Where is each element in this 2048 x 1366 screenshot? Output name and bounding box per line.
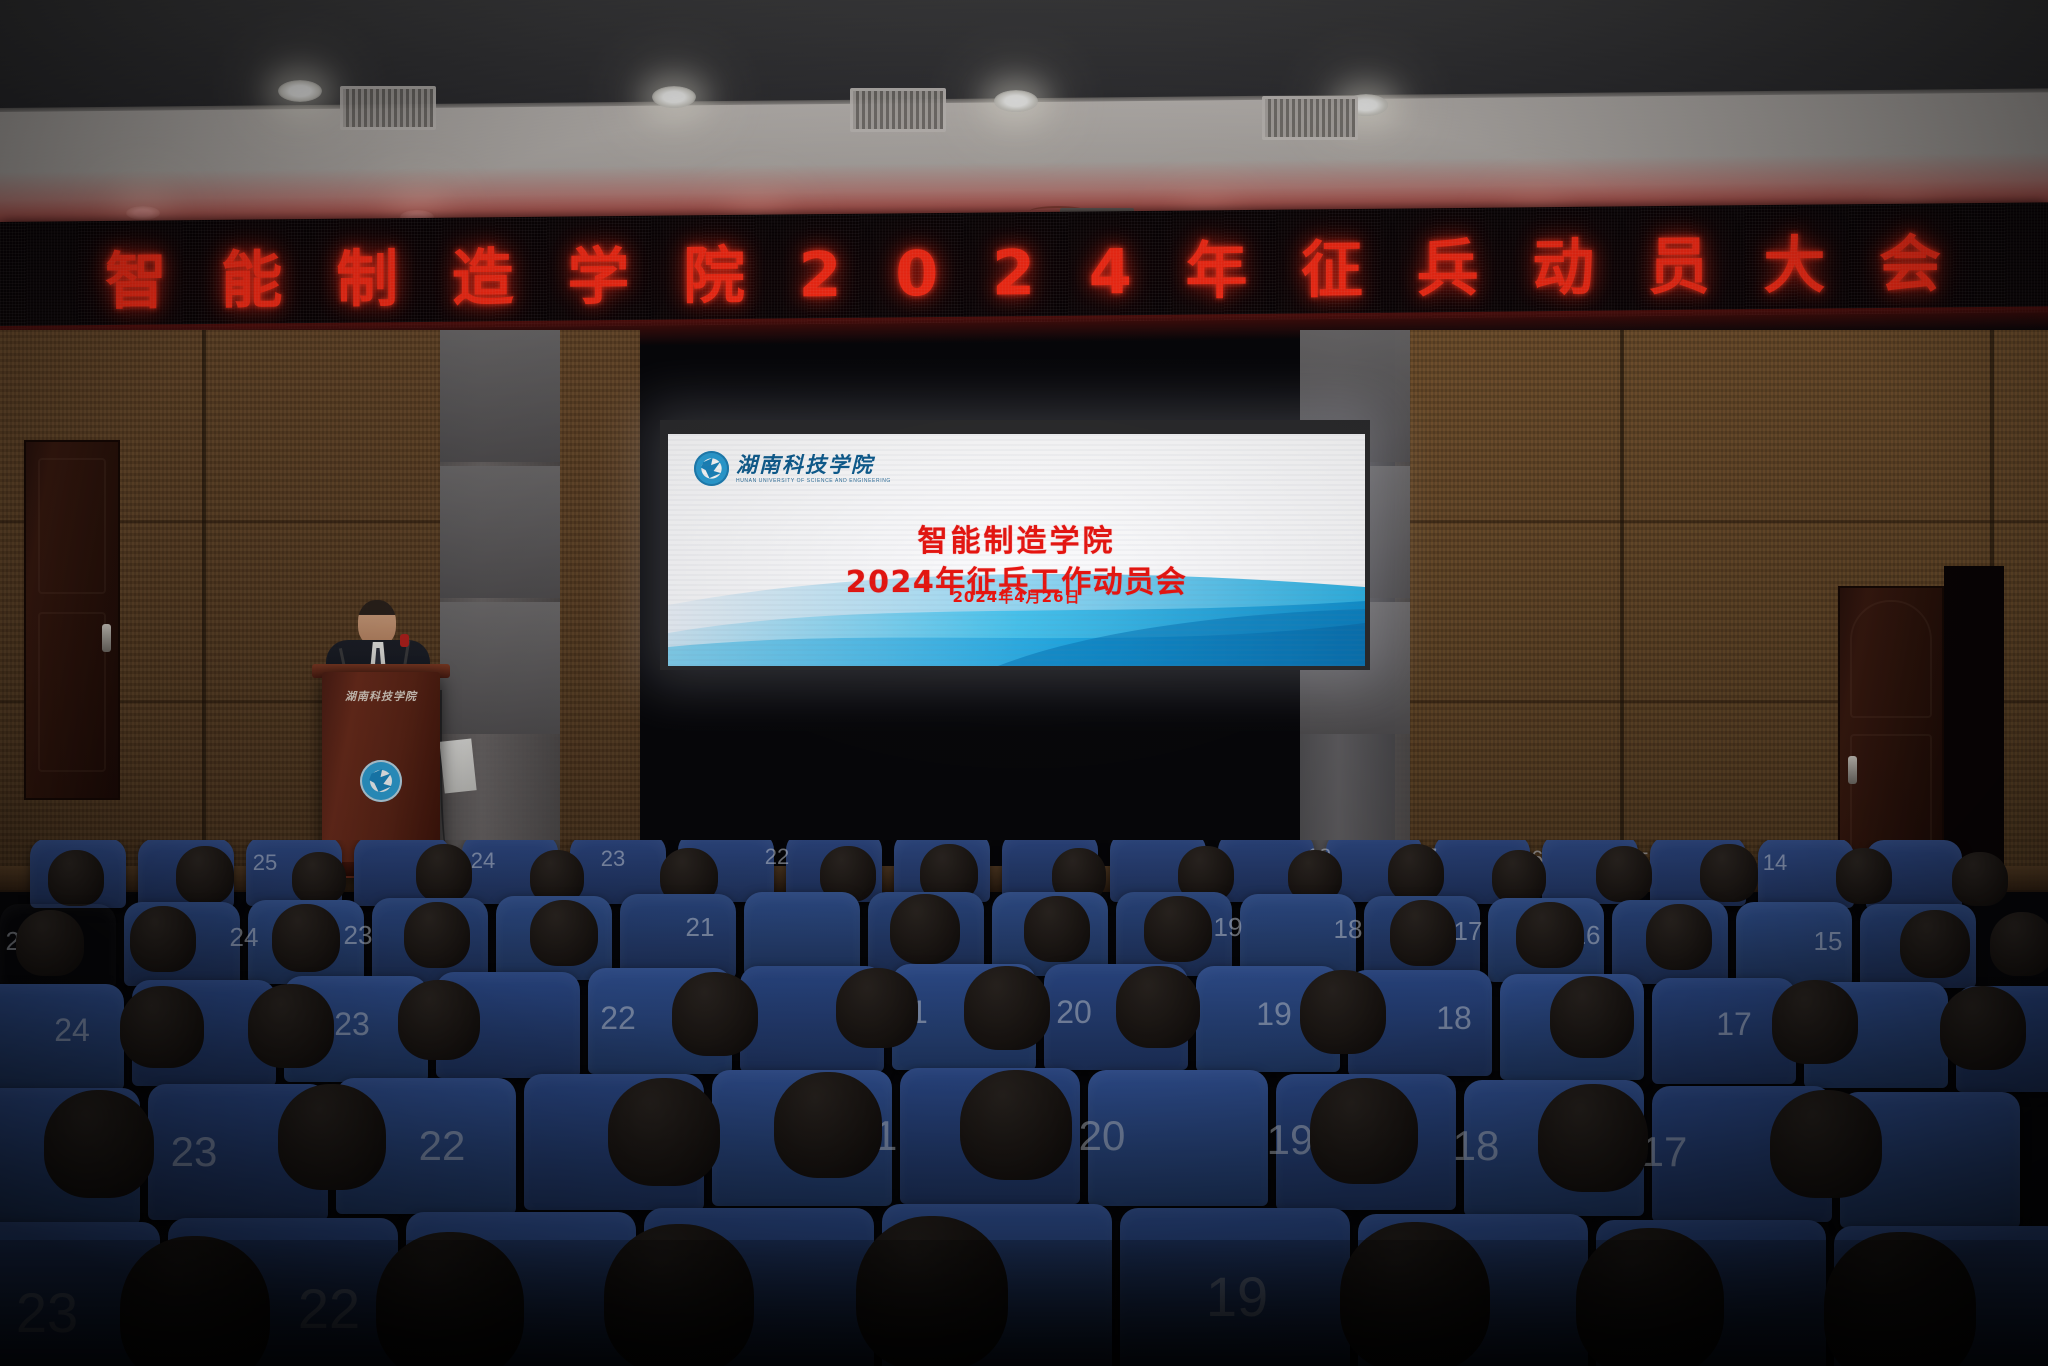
hvac-vent-icon [340, 86, 436, 130]
door-panel [38, 612, 106, 772]
hvac-vent-icon [1262, 96, 1358, 140]
audience-head [1646, 904, 1712, 970]
audience-head [1550, 976, 1634, 1058]
hvac-vent-icon [850, 88, 946, 132]
audience-head [1300, 970, 1386, 1054]
audience-head [404, 902, 470, 968]
door-panel [1850, 600, 1932, 718]
slide-title-line1: 智能制造学院 [668, 522, 1365, 563]
audience-head [1700, 844, 1758, 902]
audience-head [1900, 910, 1970, 978]
audience-head [376, 1232, 524, 1366]
audience-head [44, 1090, 154, 1198]
audience-head [1772, 980, 1858, 1064]
ceiling-light-icon [278, 80, 322, 102]
seat[interactable] [1120, 1208, 1350, 1366]
audience-head [1024, 896, 1090, 962]
audience-head [292, 852, 346, 904]
audience-head [672, 972, 758, 1056]
projection-screen: 湖南科技学院 HUNAN UNIVERSITY OF SCIENCE AND E… [668, 434, 1365, 666]
auditorium-scene: 智 能 制 造 学 院 2 0 2 4 年 征 兵 动 员 大 会 [0, 0, 2048, 1366]
audience-head [1576, 1228, 1724, 1366]
microphone-icon [400, 634, 409, 647]
audience-head [1390, 900, 1456, 966]
audience-head [48, 850, 104, 906]
university-crest-icon [360, 760, 402, 802]
door-handle-icon[interactable] [102, 624, 111, 652]
audience-head [272, 904, 340, 972]
audience-head [604, 1224, 754, 1366]
slide-logo: 湖南科技学院 HUNAN UNIVERSITY OF SCIENCE AND E… [694, 451, 891, 486]
pillar-block [440, 330, 560, 462]
seat[interactable] [1088, 1070, 1268, 1206]
audience-head [1388, 844, 1444, 902]
audience-head [1824, 1232, 1976, 1366]
audience-area: 26 25 24 23 22 18 17 16 15 14 13 [0, 840, 2048, 1366]
audience-head [856, 1216, 1008, 1366]
ceiling-light-icon [652, 86, 696, 108]
door-handle-icon[interactable] [1848, 756, 1857, 784]
audience-head [1516, 902, 1584, 968]
audience-head [1144, 896, 1212, 962]
audience-head [1952, 852, 2008, 906]
audience-head [1116, 966, 1200, 1048]
audience-head [1310, 1078, 1418, 1184]
seat[interactable] [1736, 902, 1852, 986]
logo-name-cn: 湖南科技学院 [736, 454, 891, 475]
seat[interactable] [620, 894, 736, 978]
audience-head [1990, 912, 2048, 976]
audience-head [774, 1072, 882, 1178]
audience-head [1770, 1090, 1882, 1198]
pillar-block [440, 466, 560, 598]
wall-seam [1410, 520, 2048, 523]
slide-date: 2024年4月26日 [668, 586, 1365, 607]
door-panel [38, 458, 106, 594]
soffit-light-icon [126, 206, 160, 220]
seat[interactable] [744, 892, 860, 976]
door-left[interactable] [24, 440, 120, 800]
audience-head [890, 894, 960, 964]
audience-head [120, 1236, 270, 1366]
podium-label: 湖南科技学院 [322, 688, 440, 704]
audience-head [964, 966, 1050, 1050]
seat[interactable] [0, 984, 124, 1090]
audience-head [120, 986, 204, 1068]
wall-seam [1620, 330, 1624, 890]
wall-seam [202, 330, 206, 890]
audience-head [1340, 1222, 1490, 1366]
logo-name-en: HUNAN UNIVERSITY OF SCIENCE AND ENGINEER… [736, 478, 891, 484]
audience-head [1940, 986, 2026, 1070]
audience-head [278, 1084, 386, 1190]
ceiling-light-icon [994, 90, 1038, 112]
audience-head [1538, 1084, 1648, 1192]
audience-head [398, 980, 480, 1060]
audience-head [176, 846, 234, 904]
audience-head [416, 844, 472, 902]
audience-head [1836, 848, 1892, 904]
audience-head [1596, 846, 1652, 902]
audience-head [608, 1078, 720, 1186]
audience-head [16, 910, 84, 976]
logo-text-block: 湖南科技学院 HUNAN UNIVERSITY OF SCIENCE AND E… [736, 454, 891, 484]
audience-head [130, 906, 196, 972]
audience-head [960, 1070, 1072, 1180]
podium-papers [439, 738, 476, 793]
presentation-slide: 湖南科技学院 HUNAN UNIVERSITY OF SCIENCE AND E… [668, 434, 1365, 666]
audience-head [248, 984, 334, 1068]
audience-head [530, 900, 598, 966]
university-logo-icon [694, 451, 729, 486]
audience-head [836, 968, 918, 1048]
audience-head [1492, 850, 1546, 904]
